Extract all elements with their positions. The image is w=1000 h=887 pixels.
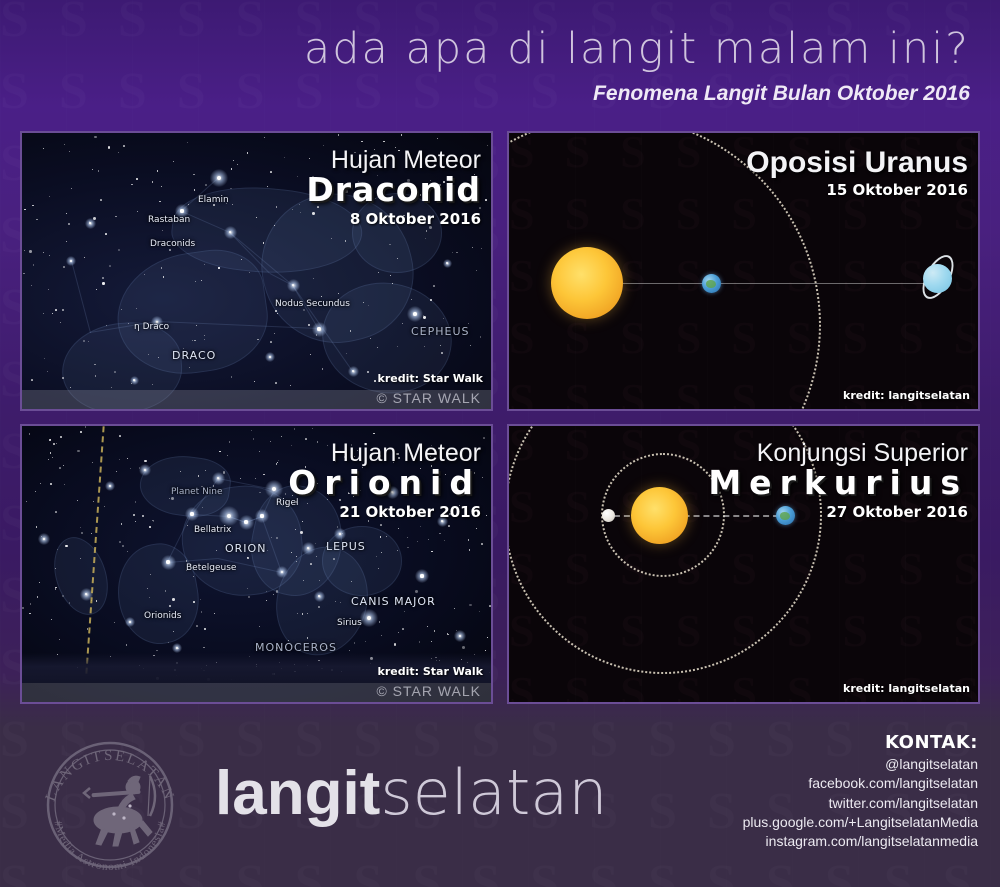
- sky-label-bellatrix: Bellatrix: [194, 525, 231, 535]
- sky-label-elamin: Elamin: [198, 195, 229, 205]
- opposition-sight-line: [601, 283, 941, 284]
- panel-heading-merkurius: Konjungsi Superior Merkurius 27 Oktober …: [708, 440, 968, 521]
- credit-merkurius: kredit: langitselatan: [843, 682, 970, 695]
- sky-label-sirius: Sirius: [337, 618, 362, 628]
- uranus-icon: [923, 264, 952, 293]
- panel-orionid[interactable]: Hujan Meteor Orionid 21 Oktober 2016 Pla…: [20, 424, 493, 704]
- sun-icon: [551, 247, 623, 319]
- panel-merkurius[interactable]: SSSSSSSSSSSSSSSSSSSSSSSSSSSSSSSSSSSSSSSS…: [507, 424, 980, 704]
- credit-orionid: kredit: Star Walk: [378, 665, 483, 678]
- panel-heading-uranus: Oposisi Uranus 15 Oktober 2016: [746, 147, 968, 199]
- brand-wordmark: langitselatan: [215, 762, 608, 825]
- panel-line2: Orionid: [288, 466, 481, 501]
- panel-date: 21 Oktober 2016: [288, 503, 481, 521]
- panel-uranus[interactable]: SSSSSSSSSSSSSSSSSSSSSSSSSSSSSSSSSSSSSSSS…: [507, 131, 980, 411]
- sky-label-cepheus: CEPHEUS: [411, 325, 470, 338]
- contact-handle[interactable]: @langitselatan: [743, 755, 978, 774]
- infographic-page: SSSSSSSSSSSSSSSSSSSSSSSSSSSSSSSSSSSSSSSS…: [0, 0, 1000, 887]
- contact-title: KONTAK:: [743, 732, 978, 753]
- panel-line1: Oposisi Uranus: [746, 147, 968, 179]
- sky-label-orion: ORION: [225, 542, 266, 555]
- credit-uranus: kredit: langitselatan: [843, 389, 970, 402]
- sagittarius-archer-icon: [84, 776, 155, 846]
- brand-light: selatan: [380, 756, 607, 829]
- starwalk-watermark: © STAR WALK: [376, 390, 481, 409]
- sky-label-canis-major: CANIS MAJOR: [351, 595, 436, 608]
- sky-label-orionids: Orionids: [144, 611, 181, 621]
- contact-facebook[interactable]: facebook.com/langitselatan: [743, 774, 978, 793]
- credit-draconid: kredit: Star Walk: [378, 372, 483, 385]
- header: ada apa di langit malam ini? Fenomena La…: [0, 0, 1000, 125]
- sky-label-betelgeuse: Betelgeuse: [186, 563, 236, 573]
- page-subtitle: Fenomena Langit Bulan Oktober 2016: [593, 82, 970, 106]
- contact-instagram[interactable]: instagram.com/langitselatanmedia: [743, 832, 978, 851]
- contact-block: KONTAK: @langitselatan facebook.com/lang…: [743, 732, 978, 852]
- panel-heading-orionid: Hujan Meteor Orionid 21 Oktober 2016: [288, 440, 481, 521]
- page-title: ada apa di langit malam ini?: [304, 24, 970, 74]
- panel-date: 8 Oktober 2016: [306, 210, 481, 228]
- contact-google[interactable]: plus.google.com/+LangitselatanMedia: [743, 813, 978, 832]
- panel-line2: Merkurius: [708, 466, 968, 501]
- starwalk-watermark: © STAR WALK: [376, 683, 481, 702]
- langitselatan-logo[interactable]: LANGITSELATAN #Media Astronomi Indonesia…: [30, 736, 190, 874]
- logo-svg: LANGITSELATAN #Media Astronomi Indonesia…: [30, 736, 190, 874]
- sky-label-planet-nine: Planet Nine: [171, 487, 223, 497]
- sun-icon: [631, 487, 688, 544]
- sky-label-rastaban: Rastaban: [148, 215, 190, 225]
- contact-twitter[interactable]: twitter.com/langitselatan: [743, 794, 978, 813]
- footer: LANGITSELATAN #Media Astronomi Indonesia…: [0, 714, 1000, 887]
- panel-line2: Draconid: [306, 173, 481, 208]
- earth-icon: [702, 274, 721, 293]
- mercury-icon: [602, 509, 615, 522]
- panel-date: 27 Oktober 2016: [708, 503, 968, 521]
- sky-label-draco: η Draco: [134, 322, 169, 332]
- sky-label-lepus: LEPUS: [326, 540, 366, 553]
- panel-date: 15 Oktober 2016: [746, 181, 968, 199]
- panel-heading-draconid: Hujan Meteor Draconid 8 Oktober 2016: [306, 147, 481, 228]
- sky-label-nodus-secundus: Nodus Secundus: [275, 299, 350, 309]
- sky-label-draconids: Draconids: [150, 239, 195, 249]
- sky-label-draco: DRACO: [172, 349, 216, 362]
- brand-bold: langit: [215, 759, 380, 828]
- panel-draconid[interactable]: Hujan Meteor Draconid 8 Oktober 2016 Ela…: [20, 131, 493, 411]
